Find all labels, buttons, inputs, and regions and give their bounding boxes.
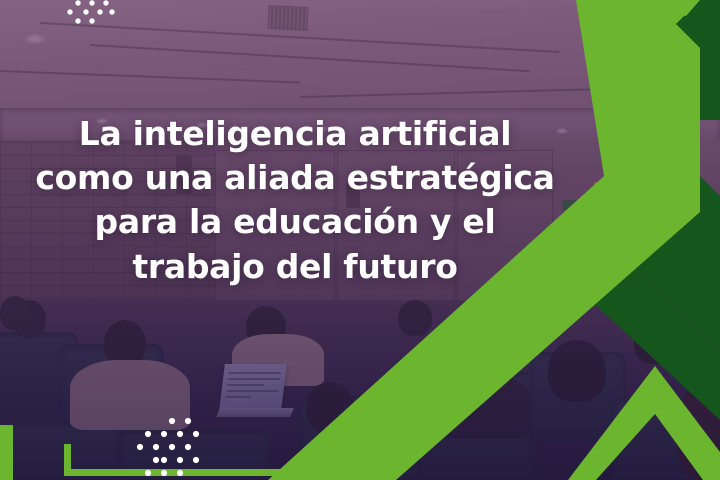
headline-line-1: La inteligencia artificial	[14, 112, 576, 156]
green-edge-bar	[0, 425, 13, 480]
headline-line-4: trabajo del futuro	[14, 245, 576, 289]
dotted-arrow-bottom	[137, 418, 199, 476]
headline-line-2: como una aliada estratégica	[14, 156, 576, 200]
headline: La inteligencia artificial como una alia…	[0, 112, 590, 289]
dotted-arrow-top	[67, 0, 114, 24]
headline-line-3: para la educación y el	[14, 200, 576, 244]
slide-canvas: La inteligencia artificial como una alia…	[0, 0, 720, 480]
